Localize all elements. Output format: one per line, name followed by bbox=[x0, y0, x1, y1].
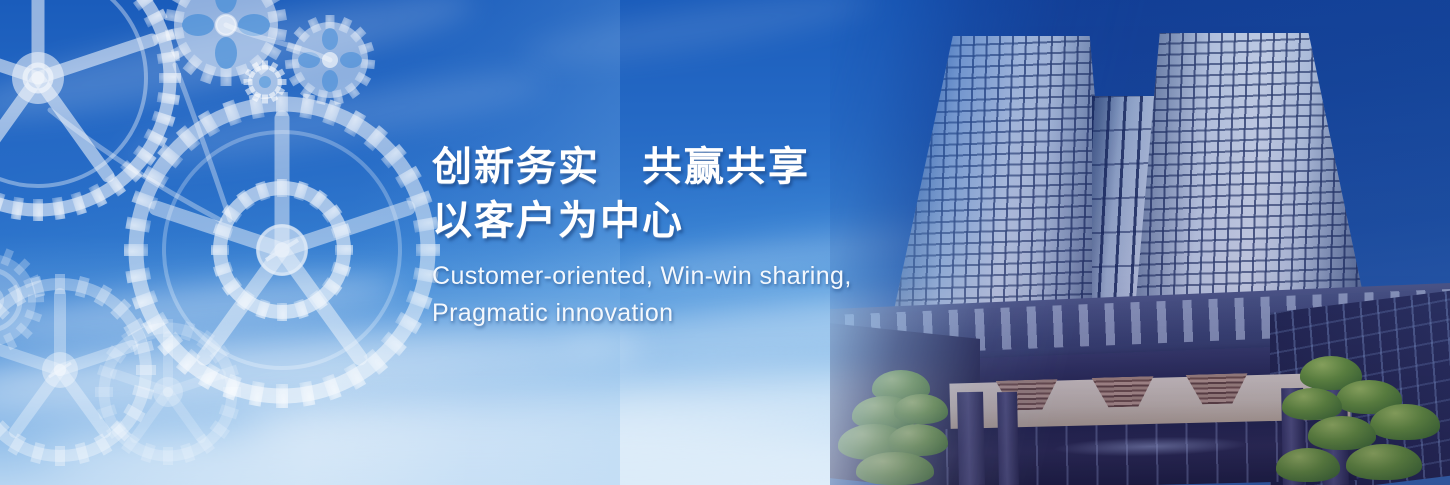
subtitle-line-1: Customer-oriented, Win-win sharing, bbox=[432, 258, 1072, 295]
subtitle-line-2: Pragmatic innovation bbox=[432, 295, 1072, 332]
headline-line-2: 以客户为中心 bbox=[432, 194, 1072, 248]
banner-copy: 创新务实 共赢共享 以客户为中心 Customer-oriented, Win-… bbox=[432, 140, 1072, 332]
corporate-hero-banner: 创新务实 共赢共享 以客户为中心 Customer-oriented, Win-… bbox=[0, 0, 1450, 485]
headline-line-1: 创新务实 共赢共享 bbox=[432, 140, 1072, 194]
